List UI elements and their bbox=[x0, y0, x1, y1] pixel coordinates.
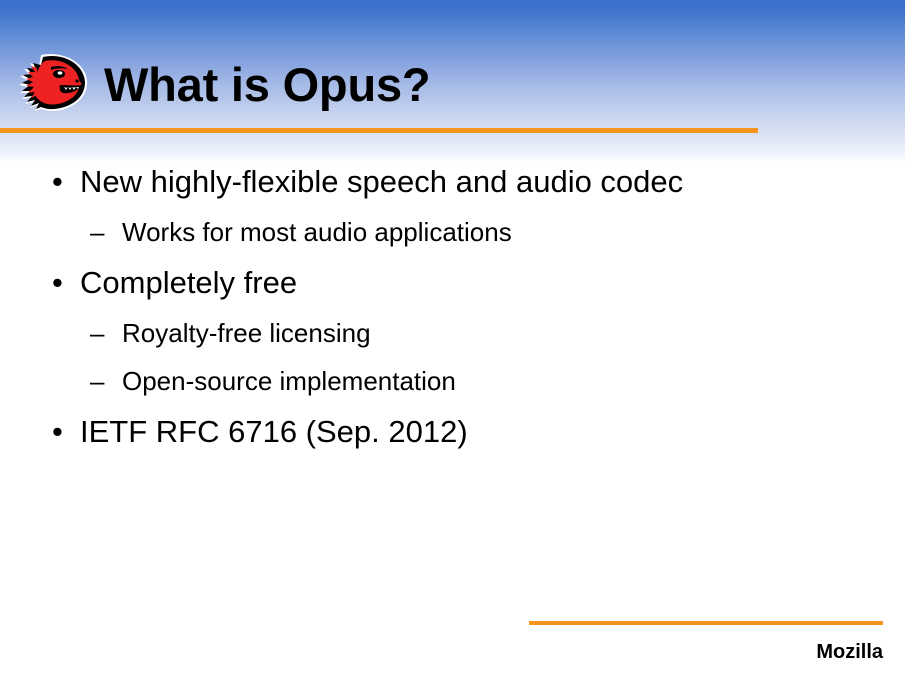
bullet-marker: – bbox=[90, 357, 104, 405]
mozilla-dinosaur-icon bbox=[11, 52, 95, 114]
bullet-text: IETF RFC 6716 (Sep. 2012) bbox=[80, 414, 468, 449]
bullet-item: – Works for most audio applications bbox=[0, 208, 905, 256]
bullet-marker: • bbox=[52, 256, 63, 309]
footer-brand-label: Mozilla bbox=[583, 641, 883, 664]
bullet-text: Royalty-free licensing bbox=[122, 318, 371, 348]
bullet-item: – Open-source implementation bbox=[0, 357, 905, 405]
bullet-text: New highly-flexible speech and audio cod… bbox=[80, 164, 683, 199]
slide: What is Opus? • New highly-flexible spee… bbox=[0, 0, 905, 677]
bullet-marker: • bbox=[52, 405, 63, 458]
bullet-item: • New highly-flexible speech and audio c… bbox=[0, 155, 905, 208]
bullet-item: – Royalty-free licensing bbox=[0, 309, 905, 357]
bullet-marker: – bbox=[90, 208, 104, 256]
slide-body: • New highly-flexible speech and audio c… bbox=[0, 155, 905, 458]
slide-title: What is Opus? bbox=[104, 54, 744, 116]
bullet-marker: – bbox=[90, 309, 104, 357]
bullet-item: • IETF RFC 6716 (Sep. 2012) bbox=[0, 405, 905, 458]
bullet-text: Completely free bbox=[80, 265, 297, 300]
footer-accent-rule bbox=[529, 621, 883, 625]
header-accent-rule bbox=[0, 128, 758, 133]
bullet-text: Open-source implementation bbox=[122, 366, 456, 396]
bullet-marker: • bbox=[52, 155, 63, 208]
bullet-text: Works for most audio applications bbox=[122, 217, 512, 247]
bullet-item: • Completely free bbox=[0, 256, 905, 309]
